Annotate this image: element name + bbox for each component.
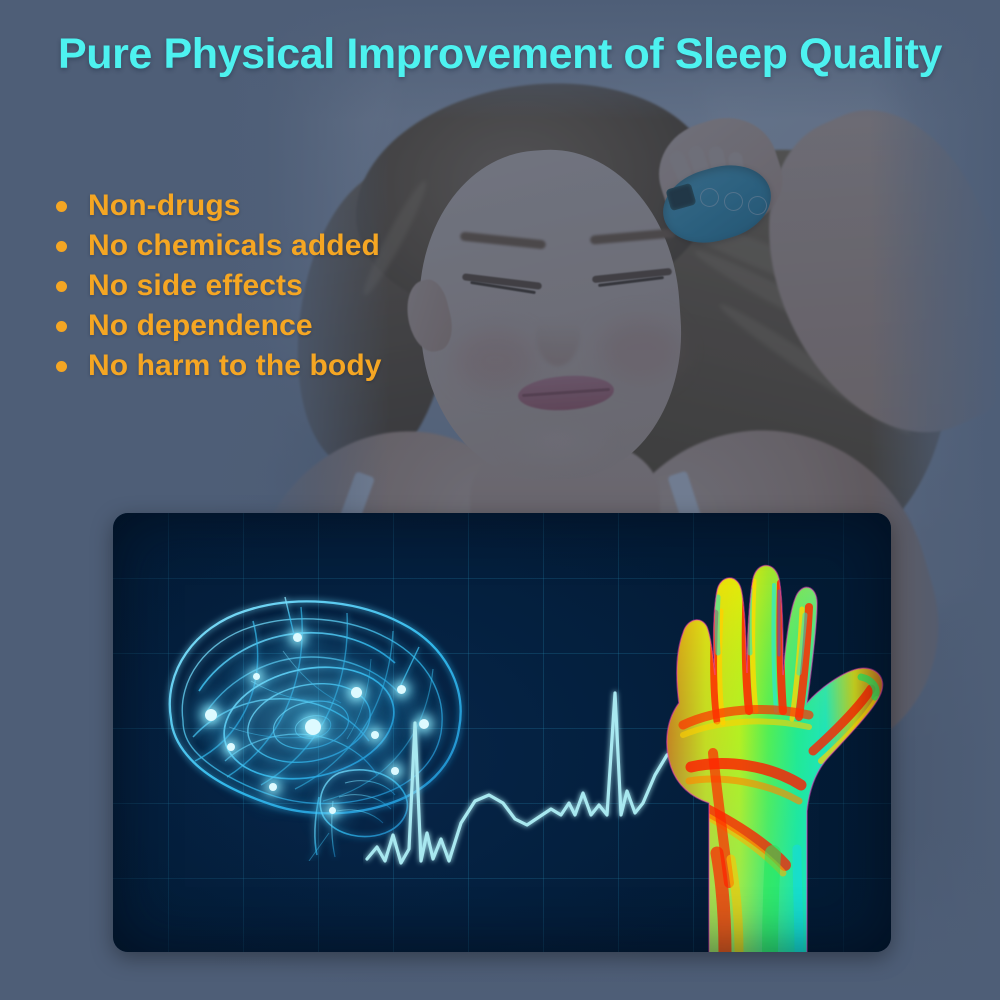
neural-node bbox=[253, 673, 260, 680]
list-item-label: No dependence bbox=[88, 309, 313, 343]
list-item: No dependence bbox=[56, 306, 382, 346]
list-item-label: No chemicals added bbox=[88, 229, 380, 263]
list-item: Non-drugs bbox=[56, 186, 382, 226]
benefits-list: Non-drugs No chemicals added No side eff… bbox=[56, 186, 382, 386]
neural-node bbox=[329, 807, 336, 814]
neural-node bbox=[305, 719, 321, 735]
neural-node bbox=[205, 709, 217, 721]
thermal-hand bbox=[613, 553, 891, 952]
neural-node bbox=[351, 687, 362, 698]
promo-graphic: Pure Physical Improvement of Sleep Quali… bbox=[0, 0, 1000, 1000]
bullet-dot-icon bbox=[56, 241, 67, 252]
bullet-dot-icon bbox=[56, 281, 67, 292]
tech-illustration-panel bbox=[113, 513, 891, 952]
list-item-label: No side effects bbox=[88, 269, 303, 303]
neural-node bbox=[269, 783, 277, 791]
bullet-dot-icon bbox=[56, 321, 67, 332]
page-title: Pure Physical Improvement of Sleep Quali… bbox=[0, 30, 1000, 79]
list-item: No chemicals added bbox=[56, 226, 382, 266]
bullet-dot-icon bbox=[56, 361, 67, 372]
bullet-dot-icon bbox=[56, 201, 67, 212]
neural-node bbox=[293, 633, 302, 642]
list-item-label: No harm to the body bbox=[88, 349, 382, 383]
list-item: No side effects bbox=[56, 266, 382, 306]
thermal-hand-icon bbox=[613, 553, 891, 952]
list-item-label: Non-drugs bbox=[88, 189, 241, 223]
neural-node bbox=[227, 743, 235, 751]
list-item: No harm to the body bbox=[56, 346, 382, 386]
